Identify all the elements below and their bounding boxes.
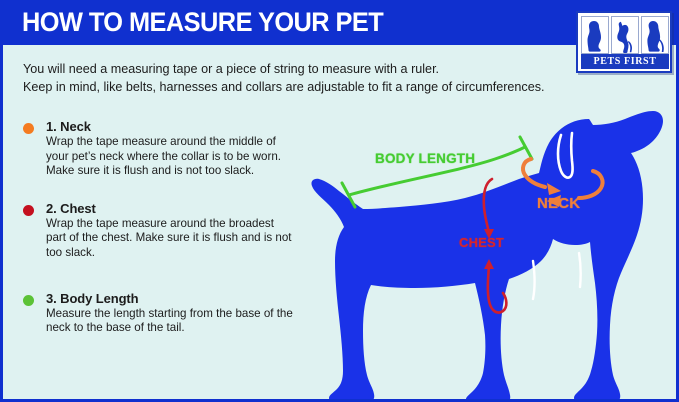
step-body-length: 3. Body Length Measure the length starti… bbox=[21, 291, 296, 336]
dog-sitting-icon bbox=[581, 16, 609, 54]
intro-line-1: You will need a measuring tape or a piec… bbox=[23, 60, 663, 78]
intro-text: You will need a measuring tape or a piec… bbox=[23, 60, 663, 96]
dog-illustration: BODY LENGTH NECK CHEST bbox=[289, 103, 679, 402]
bullet-body-length-icon bbox=[23, 295, 34, 306]
step-neck: 1. Neck Wrap the tape measure around the… bbox=[21, 119, 296, 179]
label-neck: NECK bbox=[537, 195, 580, 212]
label-body-length: BODY LENGTH bbox=[375, 151, 475, 166]
step-body-length-title: 3. Body Length bbox=[46, 291, 296, 306]
step-chest-title: 2. Chest bbox=[46, 201, 296, 216]
infographic-page: HOW TO MEASURE YOUR PET bbox=[0, 0, 679, 402]
bullet-neck-icon bbox=[23, 123, 34, 134]
bullet-chest-icon bbox=[23, 205, 34, 216]
dog-standing-icon bbox=[611, 16, 639, 54]
step-neck-title: 1. Neck bbox=[46, 119, 296, 134]
dog-diagram-svg bbox=[289, 103, 679, 402]
dog-sitting-alt-icon bbox=[641, 16, 669, 54]
step-chest: 2. Chest Wrap the tape measure around th… bbox=[21, 201, 296, 261]
logo-icon-row bbox=[581, 16, 669, 54]
dog-body-shape bbox=[289, 103, 679, 402]
label-chest: CHEST bbox=[459, 235, 504, 250]
step-neck-body: Wrap the tape measure around the middle … bbox=[46, 135, 296, 179]
step-chest-body: Wrap the tape measure around the broades… bbox=[46, 217, 296, 261]
page-title: HOW TO MEASURE YOUR PET bbox=[22, 7, 383, 38]
step-body-length-body: Measure the length starting from the bas… bbox=[46, 307, 296, 336]
intro-line-2: Keep in mind, like belts, harnesses and … bbox=[23, 78, 663, 96]
steps-list: 1. Neck Wrap the tape measure around the… bbox=[21, 119, 296, 353]
